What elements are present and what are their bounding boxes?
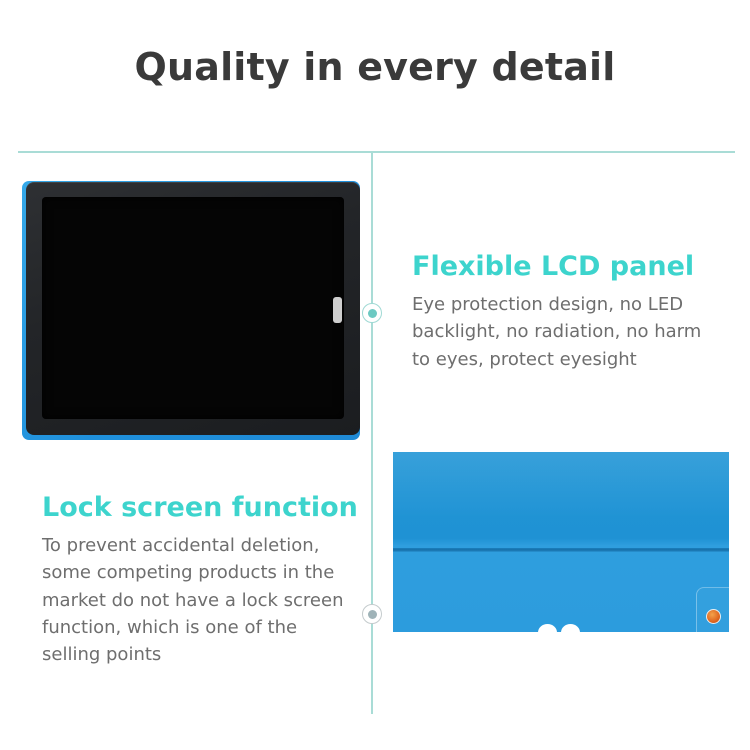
feature-block-flexible-lcd-panel: Flexible LCD panel Eye protection design… (412, 251, 722, 373)
feature-heading: Lock screen function (42, 492, 360, 524)
feature-block-lock-screen-function: Lock screen function To prevent accident… (42, 492, 360, 669)
feature-body-text: To prevent accidental deletion, some com… (42, 532, 360, 669)
timeline-node-core (368, 309, 377, 318)
timeline-node-core (368, 610, 377, 619)
stylus-holder-icon (333, 297, 342, 323)
panel-crease-line (393, 548, 729, 552)
feature-body-text: Eye protection design, no LED backlight,… (412, 291, 722, 373)
lcd-writing-tablet-back-photo (393, 452, 729, 632)
erase-button-icon (706, 609, 721, 624)
timeline-node-icon-bottom (362, 604, 382, 624)
lcd-writing-tablet-front-photo (22, 181, 360, 440)
timeline-node-icon-top (362, 303, 382, 323)
vertical-divider (371, 152, 373, 714)
panel-sheen (393, 452, 729, 548)
tablet-screen (42, 197, 344, 419)
page-title: Quality in every detail (0, 46, 750, 90)
panel-notch-left (538, 624, 557, 632)
panel-notch-right (561, 624, 580, 632)
tablet-body-frame (26, 182, 360, 435)
feature-heading: Flexible LCD panel (412, 251, 722, 283)
horizontal-divider (18, 151, 735, 153)
infographic-page: Quality in every detail Flexible LCD pan… (0, 0, 750, 750)
